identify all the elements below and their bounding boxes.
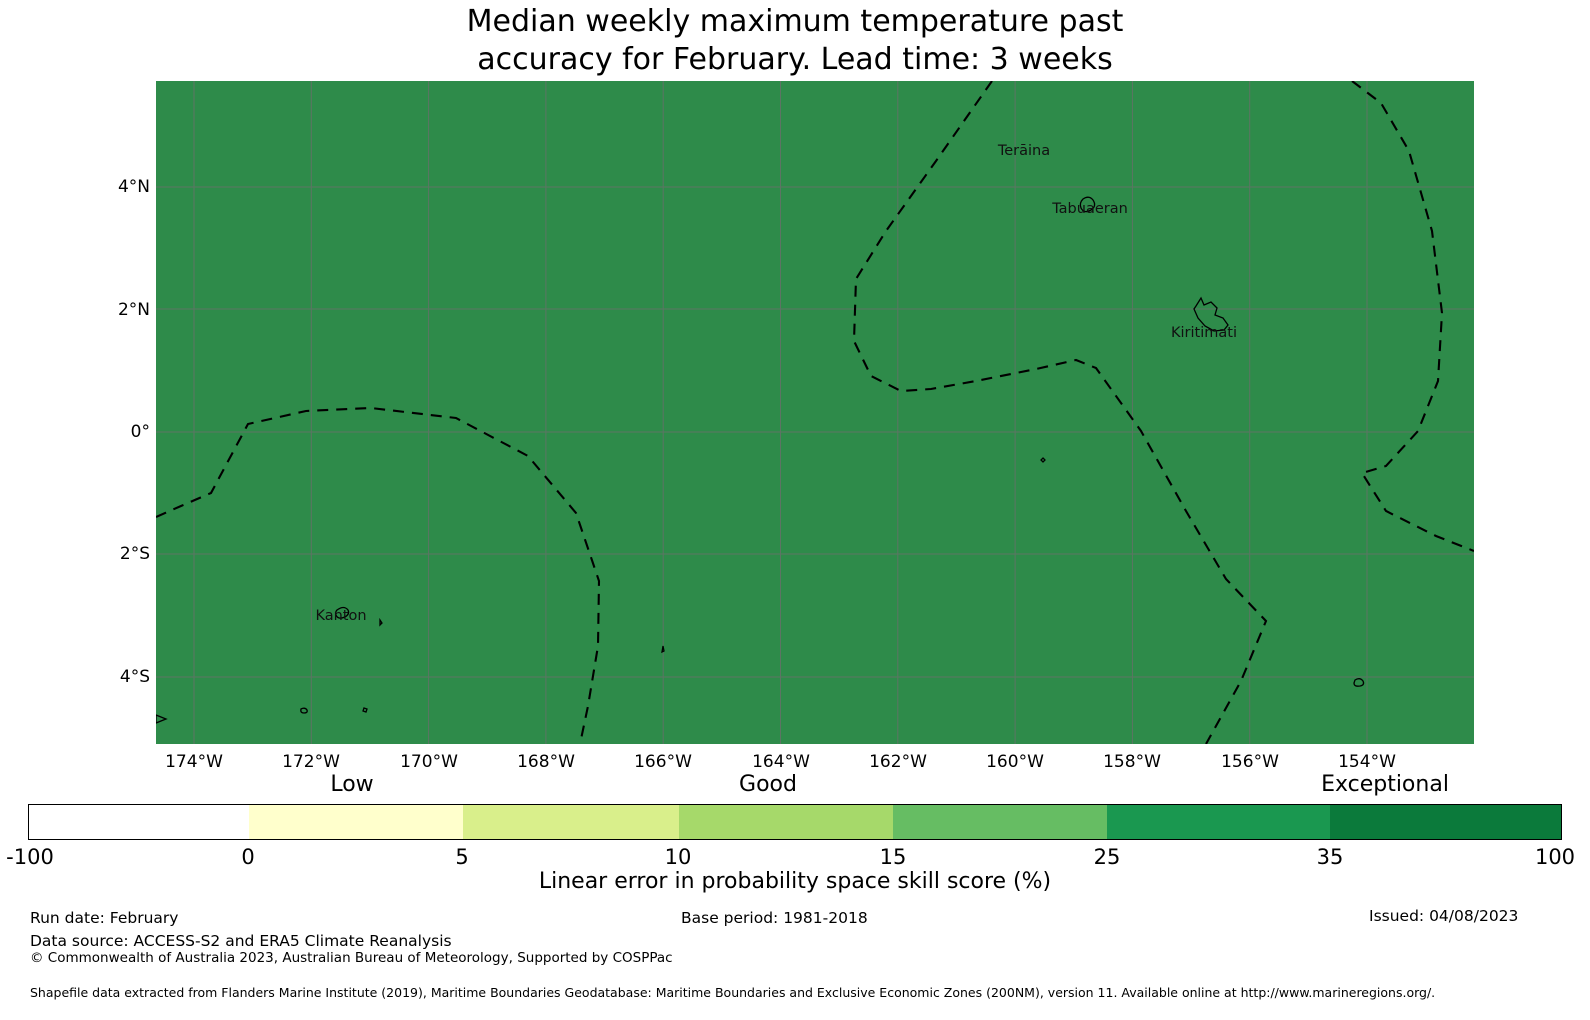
island-label-kiritimati: Kiritimati	[1171, 325, 1237, 341]
colorbar[interactable]	[28, 804, 1562, 840]
x-axis-tick-160w: 160°W	[986, 752, 1044, 772]
colorbar-category-low: Low	[330, 772, 373, 797]
x-axis-tick-154w: 154°W	[1338, 752, 1396, 772]
y-axis-tick-4n: 4°N	[110, 177, 150, 197]
x-axis-tick-172w: 172°W	[282, 752, 340, 772]
colorbar-tick-15: 15	[880, 845, 907, 869]
island-label-teraina: Terāina	[998, 143, 1050, 159]
colorbar-tick--100: -100	[6, 845, 54, 869]
colorbar-band-25-35	[1107, 805, 1330, 839]
map-plot-area[interactable]: Terāina Tabuaeran Kiritimati Kanton	[156, 81, 1474, 744]
colorbar-tick-25: 25	[1094, 845, 1121, 869]
x-axis-tick-168w: 168°W	[517, 752, 575, 772]
colorbar-tick-5: 5	[455, 845, 468, 869]
footer-base-period: Base period: 1981-2018	[681, 909, 868, 927]
page-title: Median weekly maximum temperature past a…	[0, 0, 1590, 79]
island-label-kanton: Kanton	[315, 608, 366, 624]
x-axis-tick-170w: 170°W	[400, 752, 458, 772]
y-axis-tick-2n: 2°N	[110, 300, 150, 320]
colorbar-tick-10: 10	[665, 845, 692, 869]
colorbar-band-10-15	[679, 805, 894, 839]
colorbar-category-good: Good	[739, 772, 797, 797]
colorbar-band-5-10	[463, 805, 679, 839]
colorbar-axis-title: Linear error in probability space skill …	[0, 869, 1590, 894]
page-title-line1: Median weekly maximum temperature past	[0, 3, 1590, 41]
footer-data-source: Data source: ACCESS-S2 and ERA5 Climate …	[30, 932, 452, 950]
x-axis-tick-158w: 158°W	[1103, 752, 1161, 772]
island-label-tabuaeran: Tabuaeran	[1052, 201, 1128, 217]
island-coastlines	[156, 81, 1474, 744]
x-axis-tick-164w: 164°W	[752, 752, 810, 772]
footer-shapefile-attribution: Shapefile data extracted from Flanders M…	[30, 985, 1435, 1000]
y-axis-tick-4s: 4°S	[110, 667, 150, 687]
colorbar-band-15-25	[893, 805, 1107, 839]
x-axis-tick-162w: 162°W	[869, 752, 927, 772]
footer-copyright: © Commonwealth of Australia 2023, Austra…	[30, 950, 673, 966]
colorbar-band-35-100	[1330, 805, 1561, 839]
colorbar-category-labels: Low Good Exceptional	[0, 772, 1590, 798]
page-title-line2: accuracy for February. Lead time: 3 week…	[0, 41, 1590, 79]
colorbar-tick-35: 35	[1317, 845, 1344, 869]
colorbar-tick-0: 0	[241, 845, 254, 869]
colorbar-category-exceptional: Exceptional	[1321, 772, 1449, 797]
colorbar-tick-100: 100	[1535, 845, 1575, 869]
y-axis-tick-2s: 2°S	[110, 544, 150, 564]
x-axis-tick-156w: 156°W	[1221, 752, 1279, 772]
footer-run-date: Run date: February	[30, 909, 178, 927]
footer-issued-date: Issued: 04/08/2023	[1369, 907, 1518, 925]
x-axis-tick-174w: 174°W	[165, 752, 223, 772]
x-axis-tick-166w: 166°W	[634, 752, 692, 772]
colorbar-band-0-5	[249, 805, 464, 839]
y-axis-tick-0: 0°	[110, 422, 150, 442]
colorbar-band--100-0	[29, 805, 249, 839]
